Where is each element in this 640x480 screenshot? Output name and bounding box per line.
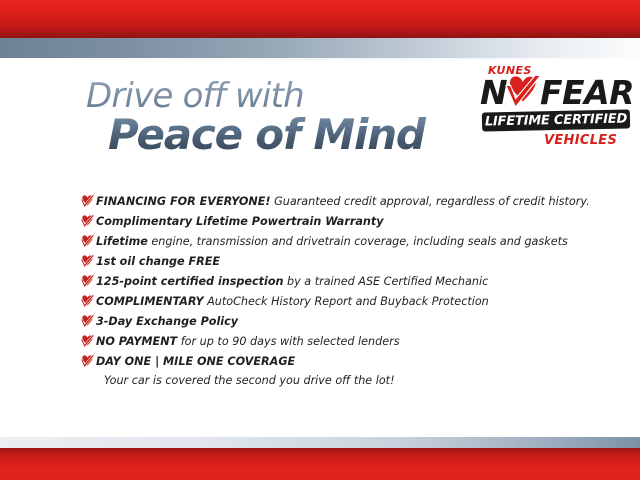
heart-check-icon [79,194,96,210]
heart-check-icon [502,73,544,113]
logo-lifetime-banner-text: LIFETIME CERTIFIED [482,109,630,131]
logo-lifetime-banner: LIFETIME CERTIFIED [482,109,630,131]
kunes-no-fear-banner: Drive off with Peace of Mind KUNES N FEA… [0,0,640,480]
top-silver-bar [0,38,640,59]
list-item-text: FINANCING FOR EVERYONE! Guaranteed credi… [96,192,599,211]
list-item: NO PAYMENT for up to 90 days with select… [79,332,599,352]
list-item-text: COMPLIMENTARY AutoCheck History Report a… [96,292,599,311]
list-item-normal: engine, transmission and drivetrain cove… [148,235,568,248]
list-item-bold: 3-Day Exchange Policy [96,315,238,328]
top-silver-edge [0,58,640,60]
list-item-text: 3-Day Exchange Policy [96,312,599,331]
list-item-normal: AutoCheck History Report and Buyback Pro… [204,295,489,308]
list-item-bold: NO PAYMENT [96,335,177,348]
list-item: Complimentary Lifetime Powertrain Warran… [79,212,599,232]
list-item-normal: Guaranteed credit approval, regardless o… [271,195,590,208]
list-item-bold: 1st oil change FREE [96,255,220,268]
headline-line-1: Drive off with [86,78,486,114]
list-item-bold: 125-point certified inspection [96,275,283,288]
list-item-bold: Complimentary Lifetime Powertrain Warran… [96,215,384,228]
list-item-text: NO PAYMENT for up to 90 days with select… [96,332,599,351]
benefits-list: FINANCING FOR EVERYONE! Guaranteed credi… [79,192,599,389]
bottom-red-bar [0,448,640,480]
heart-check-icon [79,314,96,330]
list-item-bold: Lifetime [96,235,148,248]
list-item: DAY ONE | MILE ONE COVERAGE [79,352,599,372]
headline-line-2: Peace of Mind [108,112,486,158]
heart-check-icon [79,254,96,270]
list-item: COMPLIMENTARY AutoCheck History Report a… [79,292,599,312]
list-item-text: DAY ONE | MILE ONE COVERAGE [96,352,599,371]
list-item-text: Lifetime engine, transmission and drivet… [96,232,599,251]
list-item-bold: COMPLIMENTARY [96,295,204,308]
heart-check-icon [79,334,96,350]
top-red-bar [0,0,640,38]
list-item-subtext: Your car is covered the second you drive… [96,372,599,389]
logo-word-fear: FEAR [540,76,634,109]
list-item: 125-point certified inspection by a trai… [79,272,599,292]
heart-check-icon [79,274,96,290]
heart-check-icon [79,214,96,230]
kunes-no-fear-logo: KUNES N FEAR LIFETIME CERTIFIED VEHICLES [478,62,633,154]
bottom-silver-bar [0,437,640,448]
list-item-bold: DAY ONE | MILE ONE COVERAGE [96,355,295,368]
list-item-text: 1st oil change FREE [96,252,599,271]
list-item: FINANCING FOR EVERYONE! Guaranteed credi… [79,192,599,212]
heart-check-icon [79,294,96,310]
list-item: 3-Day Exchange Policy [79,312,599,332]
list-item-normal: for up to 90 days with selected lenders [177,335,399,348]
list-item: 1st oil change FREE [79,252,599,272]
logo-word-vehicles: VEHICLES [544,133,617,148]
heart-check-icon [79,354,96,370]
list-item-normal: by a trained ASE Certified Mechanic [283,275,488,288]
list-item-text: 125-point certified inspection by a trai… [96,272,599,291]
list-item-bold: FINANCING FOR EVERYONE! [96,195,271,208]
heart-check-icon [79,234,96,250]
headline-block: Drive off with Peace of Mind [86,78,486,158]
list-item: Lifetime engine, transmission and drivet… [79,232,599,252]
logo-wordmark-row: N FEAR [480,76,632,110]
list-item-text: Complimentary Lifetime Powertrain Warran… [96,212,599,231]
